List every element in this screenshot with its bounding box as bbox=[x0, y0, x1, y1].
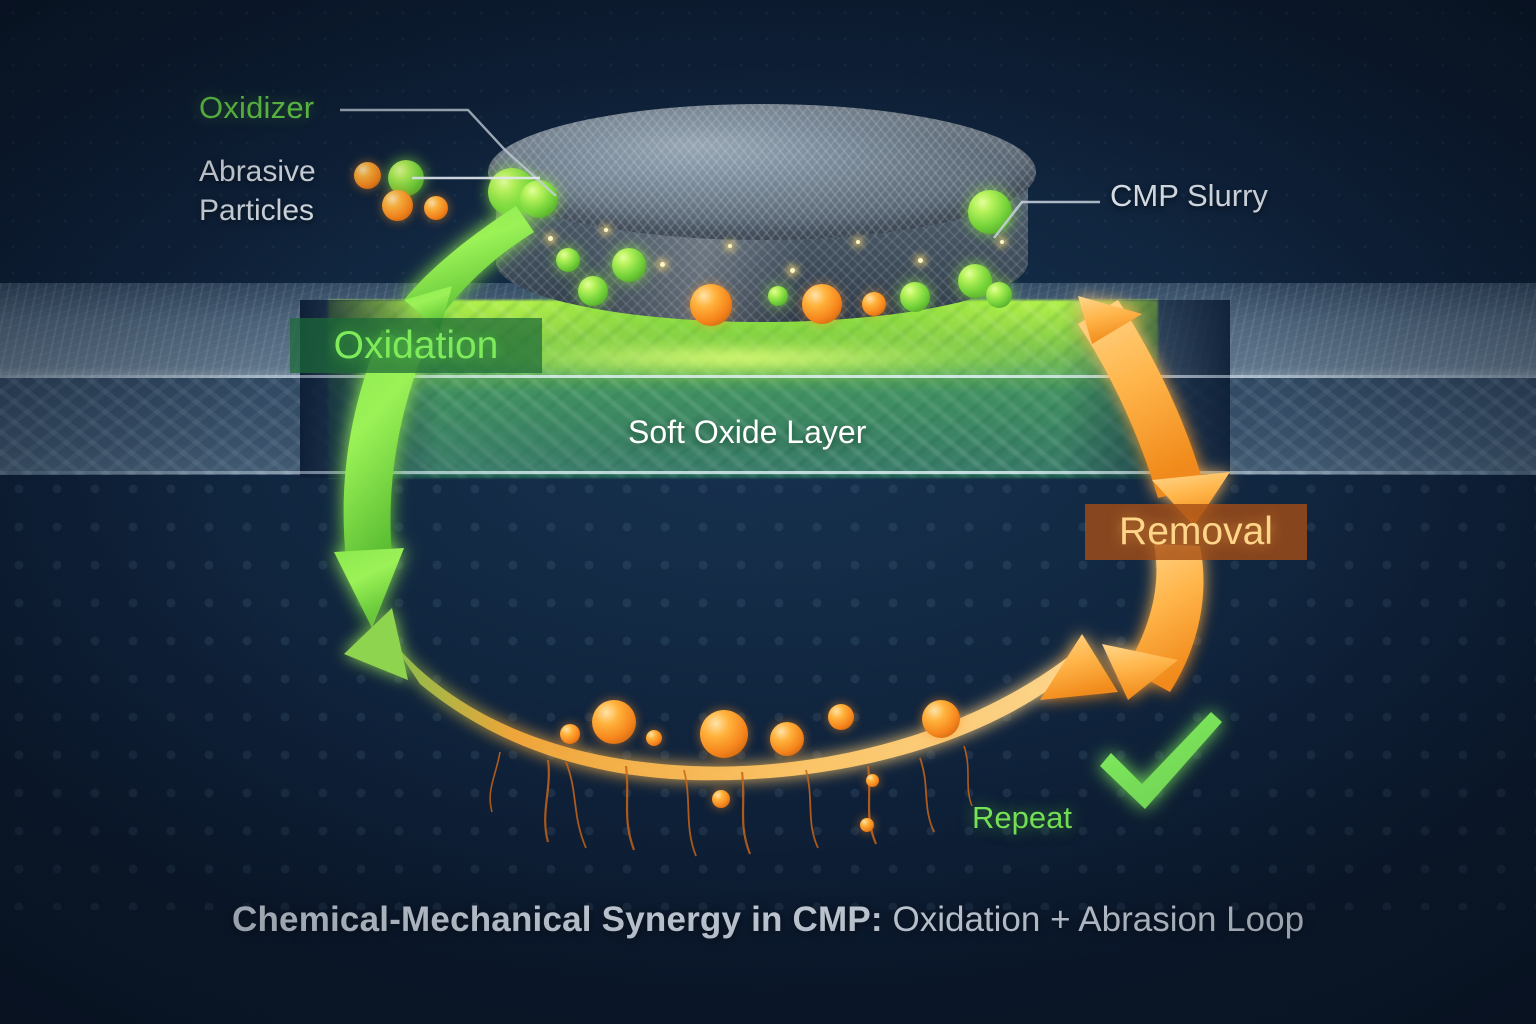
figure-title-light: Oxidation + Abrasion Loop bbox=[883, 900, 1304, 939]
slurry-green-particle bbox=[900, 282, 930, 312]
abrasive-particle bbox=[424, 196, 448, 220]
removed-debris-particle bbox=[922, 700, 960, 738]
slurry-spark bbox=[1000, 240, 1004, 244]
abrasive-particle bbox=[802, 284, 842, 324]
removal-debris-streaks bbox=[490, 746, 972, 856]
substrate-band-upper bbox=[0, 283, 1536, 378]
slurry-spark bbox=[856, 240, 860, 244]
figure-title: Chemical-Mechanical Synergy in CMP: Oxid… bbox=[0, 900, 1536, 940]
label-abrasive-particles: Abrasive Particles bbox=[199, 152, 316, 230]
check-icon bbox=[1100, 712, 1222, 809]
label-abrasive-line1: Abrasive bbox=[199, 152, 316, 191]
slurry-green-particle bbox=[488, 168, 536, 216]
slurry-green-particle bbox=[768, 286, 788, 306]
slurry-green-particle bbox=[968, 190, 1012, 234]
removed-debris-particle bbox=[770, 722, 804, 756]
removal-arrow-icon bbox=[1078, 296, 1230, 700]
slurry-spark bbox=[728, 244, 732, 248]
slurry-spark bbox=[918, 258, 923, 263]
leader-line-oxidizer bbox=[340, 110, 556, 196]
stage-chip-removal: Removal bbox=[1085, 504, 1307, 560]
label-oxidizer: Oxidizer bbox=[199, 90, 314, 126]
abrasive-particle bbox=[690, 284, 732, 326]
removed-debris-particle bbox=[828, 704, 854, 730]
slurry-spark bbox=[604, 228, 608, 232]
removed-debris-particle bbox=[860, 818, 874, 832]
removed-debris-particle bbox=[712, 790, 730, 808]
repeat-loop-arrow-icon bbox=[344, 608, 1118, 780]
abrasive-particle bbox=[354, 162, 381, 189]
slurry-green-particle bbox=[520, 180, 558, 218]
slurry-spark bbox=[790, 268, 795, 273]
figure-title-bold: Chemical-Mechanical Synergy in CMP: bbox=[232, 900, 883, 939]
slurry-green-particle bbox=[612, 248, 646, 282]
slurry-green-particle bbox=[986, 282, 1012, 308]
abrasive-particle bbox=[382, 190, 413, 221]
stage-chip-oxidation-text: Oxidation bbox=[334, 324, 499, 368]
disc-top-surface bbox=[488, 104, 1036, 240]
removed-debris-particle bbox=[560, 724, 580, 744]
disc-side-wall bbox=[496, 162, 1028, 322]
slurry-green-particle bbox=[958, 264, 992, 298]
stage-chip-oxidation: Oxidation bbox=[290, 318, 542, 373]
slurry-green-particle bbox=[556, 248, 580, 272]
label-abrasive-line2: Particles bbox=[199, 191, 316, 230]
background-dot-texture-top bbox=[0, 0, 1536, 300]
oxidizer-particle bbox=[388, 160, 424, 196]
interface-hairline-upper bbox=[0, 375, 1536, 378]
label-soft-oxide-layer: Soft Oxide Layer bbox=[628, 414, 866, 451]
removed-debris-particle bbox=[592, 700, 636, 744]
leader-line-cmp-slurry bbox=[994, 202, 1100, 238]
slurry-green-particle bbox=[578, 276, 608, 306]
interface-hairline-lower bbox=[0, 471, 1536, 474]
abrasive-particle bbox=[862, 292, 886, 316]
cmp-slurry-glow bbox=[470, 218, 1060, 348]
slurry-spark bbox=[660, 262, 665, 267]
stage-chip-removal-text: Removal bbox=[1119, 510, 1273, 554]
oxidation-arrow-icon bbox=[334, 206, 534, 628]
oxide-fade-right bbox=[1060, 300, 1230, 478]
removed-debris-particle bbox=[866, 774, 879, 787]
label-cmp-slurry: CMP Slurry bbox=[1110, 178, 1268, 214]
polishing-pad-disc bbox=[488, 104, 1036, 334]
diagram-canvas: Oxidizer Abrasive Particles CMP Slurry S… bbox=[0, 0, 1536, 1024]
removed-debris-particle bbox=[700, 710, 748, 758]
substrate-band-lower bbox=[0, 378, 1536, 475]
removed-debris-particle bbox=[646, 730, 662, 746]
label-repeat: Repeat bbox=[972, 800, 1072, 836]
slurry-spark bbox=[548, 236, 553, 241]
